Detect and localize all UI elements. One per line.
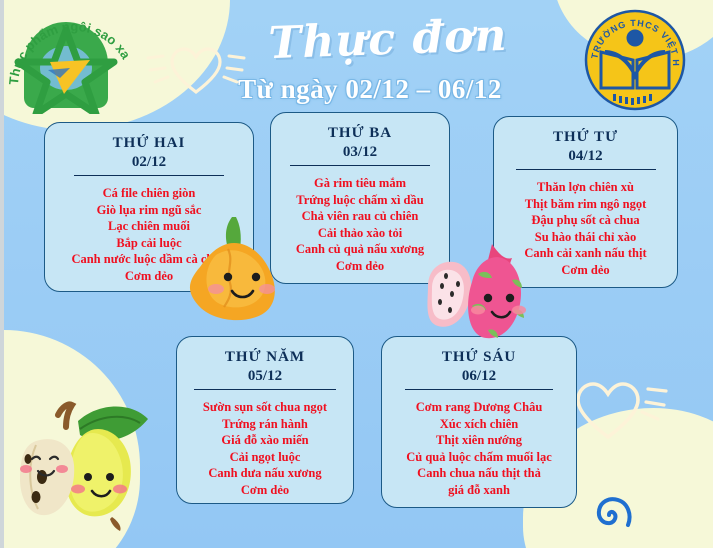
dish-item: giá đỗ xanh: [382, 482, 576, 499]
dish-item: Đậu phụ sốt cà chua: [494, 212, 677, 229]
dish-item: Canh dưa nấu xương: [177, 465, 353, 482]
menu-card-day: THỨ NĂM: [177, 347, 353, 367]
dish-list: Cơm rang Dương ChâuXúc xích chiênThịt xi…: [382, 399, 576, 498]
menu-card-date: 05/12: [177, 367, 353, 386]
divider: [74, 175, 224, 176]
pear-character: [6, 385, 166, 545]
menu-card-day: THỨ TƯ: [494, 127, 677, 147]
dish-item: Sườn sụn sốt chua ngọt: [177, 399, 353, 416]
divider: [516, 169, 656, 170]
menu-card-date: 02/12: [45, 153, 253, 172]
menu-card-day: THỨ HAI: [45, 133, 253, 153]
page-edge: [0, 0, 4, 548]
dish-item: Thịt băm rim ngô ngọt: [494, 196, 677, 213]
menu-card-thursday[interactable]: THỨ NĂM 05/12 Sườn sụn sốt chua ngọtTrứn…: [176, 336, 354, 504]
dish-item: Củ quả luộc chấm muối lạc: [382, 449, 576, 466]
dish-item: Cơm dẻo: [177, 482, 353, 499]
menu-card-date: 03/12: [271, 143, 449, 162]
dish-item: Cá file chiên giòn: [45, 185, 253, 202]
menu-card-date: 06/12: [382, 367, 576, 386]
dish-item: Cơm rang Dương Châu: [382, 399, 576, 416]
dish-item: Thịt xiên nướng: [382, 432, 576, 449]
dish-item: Trứng rán hành: [177, 416, 353, 433]
dish-item: Cải ngọt luộc: [177, 449, 353, 466]
menu-card-day: THỨ BA: [271, 123, 449, 143]
dish-item: Canh chua nấu thịt thả: [382, 465, 576, 482]
menu-poster: Thực phẩm ngôi sao xanh TRƯỜNG THCS VIỆT…: [0, 0, 713, 548]
mango-character: [170, 215, 300, 330]
dish-item: Trứng luộc chấm xì dầu: [271, 192, 449, 209]
spiral-icon: [586, 492, 632, 543]
dish-item: Xúc xích chiên: [382, 416, 576, 433]
heart-icon: [146, 40, 246, 98]
dish-item: Thăn lợn chiên xù: [494, 179, 677, 196]
brand-logo-green-star: Thực phẩm ngôi sao xanh: [4, 2, 134, 114]
school-logo: TRƯỜNG THCS VIỆT HƯNG: [583, 8, 687, 112]
dish-item: Gà rim tiêu mắm: [271, 175, 449, 192]
dish-item: Giá đỗ xào miến: [177, 432, 353, 449]
page-title: Thực đơn: [257, 9, 519, 69]
divider: [290, 165, 430, 166]
divider: [194, 389, 336, 390]
dish-list: Sườn sụn sốt chua ngọtTrứng rán hànhGiá …: [177, 399, 353, 498]
dragonfruit-character: [420, 240, 540, 352]
menu-card-friday[interactable]: THỨ SÁU 06/12 Cơm rang Dương ChâuXúc xíc…: [381, 336, 577, 508]
divider: [405, 389, 553, 390]
menu-card-date: 04/12: [494, 147, 677, 166]
